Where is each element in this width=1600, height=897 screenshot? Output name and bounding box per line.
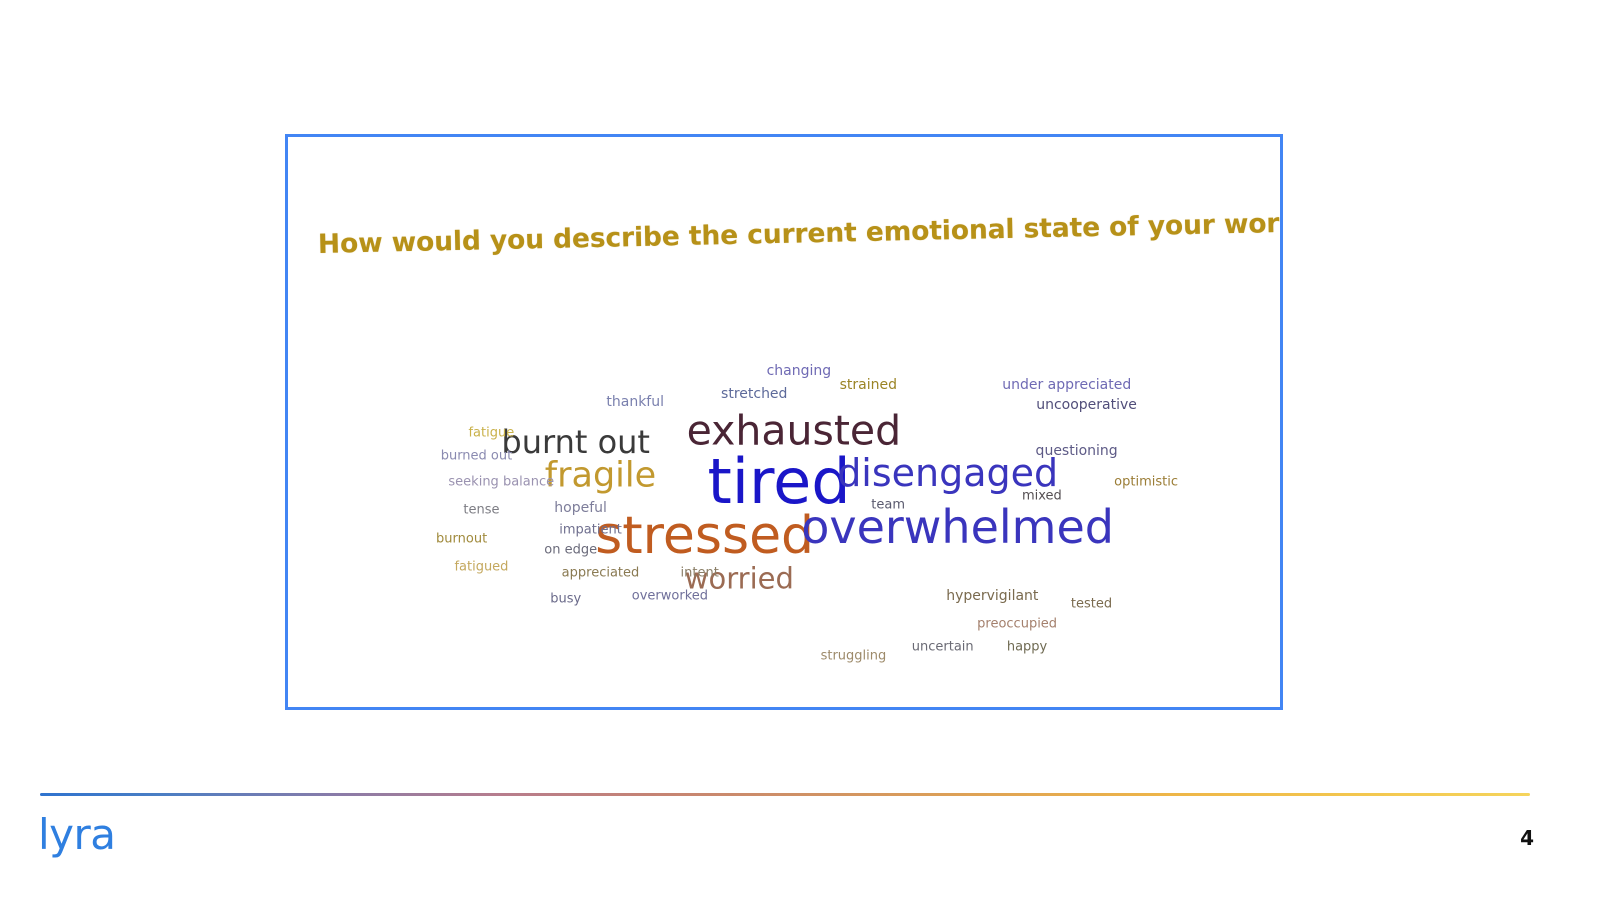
cloud-word: burnout <box>436 532 487 545</box>
cloud-word: seeking balance <box>448 475 554 488</box>
cloud-word: busy <box>550 592 581 605</box>
cloud-word: struggling <box>821 649 887 662</box>
cloud-word: tense <box>463 504 499 517</box>
cloud-word: tested <box>1071 598 1112 611</box>
cloud-word: overwhelmed <box>801 504 1114 550</box>
cloud-word: happy <box>1007 641 1047 654</box>
cloud-word: thankful <box>606 395 664 409</box>
cloud-word: fragile <box>545 459 656 494</box>
cloud-word: preoccupied <box>977 618 1057 631</box>
poll-result-image-frame: How would you describe the current emoti… <box>285 134 1283 710</box>
cloud-word: changing <box>767 364 832 378</box>
cloud-word: mixed <box>1022 490 1062 503</box>
cloud-word: uncertain <box>912 641 974 654</box>
cloud-word: team <box>871 498 905 511</box>
cloud-word: burned out <box>441 450 513 463</box>
cloud-word: stretched <box>721 387 787 401</box>
cloud-word: strained <box>840 378 897 392</box>
cloud-word: fatigue <box>468 427 514 440</box>
cloud-word: fatigued <box>454 561 508 574</box>
cloud-word: impatient <box>559 524 622 537</box>
cloud-word: uncooperative <box>1036 398 1137 412</box>
word-cloud: tiredstressedoverwhelmedexhausteddisenga… <box>288 137 1280 707</box>
cloud-word: hypervigilant <box>946 589 1038 603</box>
cloud-word: burnt out <box>501 426 650 458</box>
footer-gradient-rule <box>40 793 1530 796</box>
cloud-word: overworked <box>632 589 708 602</box>
cloud-word: disengaged <box>837 454 1058 492</box>
cloud-word: questioning <box>1036 444 1118 458</box>
cloud-word: exhausted <box>687 410 902 451</box>
page-number: 4 <box>1520 828 1534 848</box>
cloud-word: under appreciated <box>1002 378 1131 392</box>
cloud-word: optimistic <box>1114 475 1178 488</box>
cloud-word: hopeful <box>554 501 607 515</box>
cloud-word: appreciated <box>562 567 640 580</box>
cloud-word: on edge <box>544 544 597 557</box>
lyra-logo: lyra <box>38 814 116 856</box>
cloud-word: stressed <box>595 510 814 562</box>
cloud-word: intent <box>681 567 719 580</box>
